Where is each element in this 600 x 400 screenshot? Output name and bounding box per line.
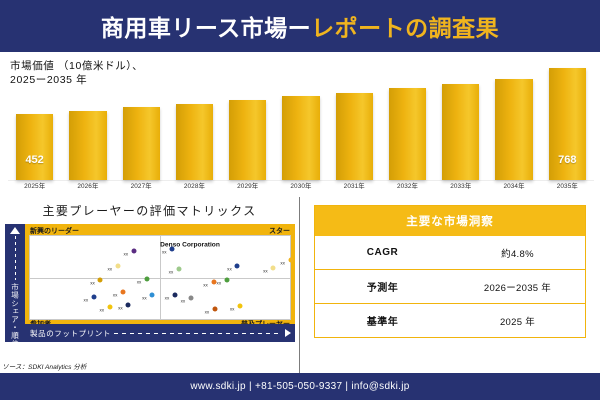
page-title-accent: レポートの調査果 (311, 15, 499, 41)
lower-section: 主要プレーヤーの評価マトリックス 市場シェア・順位 新興のリーダー スター 参加… (0, 197, 600, 373)
matrix-data-point-label: xx (137, 280, 142, 285)
x-axis-tick: 2026年 (61, 181, 114, 195)
matrix-data-point[interactable] (150, 293, 155, 298)
matrix-data-point-label: xx (169, 270, 174, 275)
dashed-arrow-line-icon (114, 333, 282, 334)
matrix-data-point-label: xx (227, 267, 232, 272)
matrix-data-point-label: xx (162, 249, 167, 254)
insights-table: 主要な市場洞察 CAGR約4.8%予測年2026ー2035 年基準年2025 年 (314, 205, 586, 338)
matrix-data-point[interactable] (235, 264, 240, 269)
page-footer: www.sdki.jp | +81-505-050-9337 | info@sd… (0, 373, 600, 400)
chart-caption: 市場価値 （10億米ドル）、 2025ー2035 年 (10, 59, 143, 87)
matrix-data-point[interactable] (91, 295, 96, 300)
chart-bar[interactable] (389, 88, 426, 180)
dashed-line-icon (15, 236, 16, 280)
x-axis-tick: 2031年 (328, 181, 381, 195)
bar-slot (487, 60, 540, 180)
chart-caption-line2: 2025ー2035 年 (10, 73, 143, 87)
chart-bar[interactable]: 452 (16, 114, 53, 180)
page-title: 商用車リース市場ーレポートの調査果 (101, 9, 499, 43)
matrix-data-point-label: xx (217, 281, 222, 286)
bar-slot (328, 60, 381, 180)
matrix-data-point[interactable] (238, 303, 243, 308)
insights-title: 主要な市場洞察 (315, 206, 585, 236)
matrix-data-point-label: xx (142, 296, 147, 301)
x-axis-tick: 2025年 (8, 181, 61, 195)
matrix-data-point[interactable] (188, 296, 193, 301)
source-note: ソース：SDKI Analytics 分析 (2, 361, 86, 371)
matrix-data-point[interactable] (288, 257, 293, 262)
matrix-data-point[interactable] (211, 280, 216, 285)
insights-row-label: 予測年 (315, 279, 450, 294)
market-value-bar-chart: 市場価値 （10億米ドル）、 2025ー2035 年 452768 2025年2… (0, 52, 600, 197)
footer-contact-text: www.sdki.jp | +81-505-050-9337 | info@sd… (190, 381, 409, 392)
chart-bar[interactable] (282, 96, 319, 180)
matrix-data-point-label: xx (230, 306, 235, 311)
x-axis-tick: 2029年 (221, 181, 274, 195)
matrix-data-point[interactable] (107, 304, 112, 309)
matrix-data-point[interactable] (212, 307, 217, 312)
chart-caption-line1: 市場価値 （10億米ドル）、 (10, 59, 143, 73)
insights-rows: CAGR約4.8%予測年2026ー2035 年基準年2025 年 (315, 236, 585, 337)
matrix-horizontal-divider (30, 278, 290, 279)
chart-bar[interactable] (495, 79, 532, 180)
matrix-data-point[interactable] (145, 277, 150, 282)
matrix-data-point-label: xx (205, 310, 210, 315)
matrix-data-point-label: xx (118, 305, 123, 310)
matrix-x-axis-label: 製品のフットプリント (30, 328, 111, 339)
matrix-title: 主要プレーヤーの評価マトリックス (0, 197, 299, 223)
right-arrow-icon (285, 329, 291, 337)
bar-slot (274, 60, 327, 180)
matrix-data-point-label: xx (107, 267, 112, 272)
key-insights-panel: 主要な市場洞察 CAGR約4.8%予測年2026ー2035 年基準年2025 年 (300, 197, 600, 373)
insights-row-value: 約4.8% (450, 246, 585, 260)
matrix-data-point-label: xx (280, 260, 285, 265)
matrix-data-point[interactable] (126, 302, 131, 307)
matrix-y-axis: 市場シェア・順位 (5, 224, 25, 342)
insights-row-label: CAGR (315, 247, 450, 258)
x-axis-tick: 2034年 (487, 181, 540, 195)
chart-bar[interactable] (69, 111, 106, 180)
page-title-main: 商用車リース市場ー (101, 15, 311, 41)
matrix-scatter-area: xxxxxxxxxxxxxxxxxxxxxxxxxxxxxxxxxxxxxxxx… (29, 235, 291, 320)
chart-bar[interactable]: 768 (549, 68, 586, 180)
chart-bar[interactable] (229, 100, 266, 180)
matrix-data-point[interactable] (172, 293, 177, 298)
bar-slot: 768 (541, 60, 594, 180)
matrix-data-point[interactable] (121, 289, 126, 294)
matrix-data-point[interactable] (131, 249, 136, 254)
matrix-data-point-label: xx (90, 281, 95, 286)
insights-row-value: 2026ー2035 年 (450, 280, 585, 294)
matrix-data-point-label: xx (263, 269, 268, 274)
insights-row-value: 2025 年 (450, 314, 585, 328)
matrix-data-point-label: xx (181, 299, 186, 304)
x-axis-tick: 2030年 (274, 181, 327, 195)
x-axis-tick: 2032年 (381, 181, 434, 195)
matrix-wrap: 市場シェア・順位 新興のリーダー スター 参加者 普及プレーヤー xxxxxxx… (5, 224, 295, 342)
chart-bar[interactable] (123, 107, 160, 180)
x-axis-tick: 2033年 (434, 181, 487, 195)
bar-slot (168, 60, 221, 180)
page-header: 商用車リース市場ーレポートの調査果 (0, 0, 600, 52)
matrix-data-point-label: xx (113, 292, 118, 297)
matrix-data-point[interactable] (115, 264, 120, 269)
insights-row-label: 基準年 (315, 313, 450, 328)
matrix-data-point[interactable] (271, 266, 276, 271)
chart-x-axis: 2025年2026年2027年2028年2029年2030年2031年2032年… (8, 181, 594, 195)
insights-row: 基準年2025 年 (315, 303, 585, 337)
bar-slot (434, 60, 487, 180)
chart-bar[interactable] (336, 93, 373, 181)
matrix-data-point-label: xx (165, 296, 170, 301)
bar-slot (221, 60, 274, 180)
bar-slot (381, 60, 434, 180)
chart-bar[interactable] (176, 104, 213, 180)
insights-row: CAGR約4.8% (315, 236, 585, 269)
matrix-y-axis-label: 市場シェア・順位 (10, 283, 21, 348)
matrix-data-point-label: xx (203, 283, 208, 288)
up-arrow-icon (10, 227, 20, 234)
matrix-data-point[interactable] (98, 278, 103, 283)
chart-bar[interactable] (442, 84, 479, 180)
insights-row: 予測年2026ー2035 年 (315, 269, 585, 303)
matrix-data-point[interactable] (224, 278, 229, 283)
matrix-named-player-label: Denso Corporation (160, 242, 220, 249)
matrix-data-point-label: xx (123, 252, 128, 257)
matrix-data-point-label: xx (84, 298, 89, 303)
matrix-data-point-label: xx (100, 307, 105, 312)
bar-value-label: 452 (16, 154, 53, 166)
bar-value-label: 768 (549, 154, 586, 166)
evaluation-matrix-panel: 主要プレーヤーの評価マトリックス 市場シェア・順位 新興のリーダー スター 参加… (0, 197, 300, 373)
matrix-x-axis: 製品のフットプリント (25, 324, 295, 342)
x-axis-tick: 2027年 (115, 181, 168, 195)
matrix-data-point[interactable] (176, 267, 181, 272)
x-axis-tick: 2035年 (541, 181, 594, 195)
x-axis-tick: 2028年 (168, 181, 221, 195)
